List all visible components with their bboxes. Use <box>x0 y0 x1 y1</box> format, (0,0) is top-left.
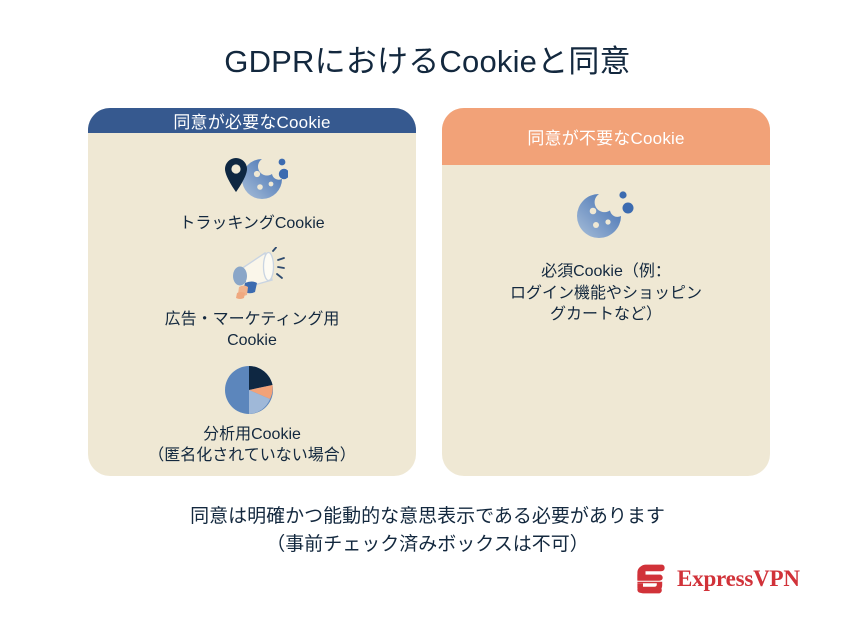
card-body-consent-required: トラッキングCookie <box>88 133 416 476</box>
list-item-label: 分析用Cookie （匿名化されていない場合） <box>148 424 356 467</box>
card-header-consent-not-required: 同意が不要なCookie <box>442 108 770 165</box>
expressvpn-logo: ExpressVPN <box>634 562 800 596</box>
expressvpn-wordmark: ExpressVPN <box>677 566 800 592</box>
list-item-essential: 必須Cookie（例： ログイン機能やショッピン グカートなど） <box>456 187 756 326</box>
list-item-analytics: 分析用Cookie （匿名化されていない場合） <box>102 362 402 467</box>
list-item-label: 必須Cookie（例： ログイン機能やショッピン グカートなど） <box>510 261 702 326</box>
megaphone-icon <box>217 247 287 303</box>
caption-text: 同意は明確かつ能動的な意思表示である必要があります （事前チェック済みボックスは… <box>0 503 855 558</box>
card-consent-required: 同意が必要なCookie <box>88 108 416 476</box>
page-title: GDPRにおけるCookieと同意 <box>0 36 855 81</box>
cookie-pin-icon <box>216 151 288 207</box>
pie-chart-icon <box>222 362 282 418</box>
card-consent-not-required: 同意が不要なCookie <box>442 108 770 476</box>
gdpr-cookie-infographic: GDPRにおけるCookieと同意 同意が必要なCookie <box>0 0 855 621</box>
card-body-consent-not-required: 必須Cookie（例： ログイン機能やショッピン グカートなど） <box>442 165 770 476</box>
card-header-consent-required: 同意が必要なCookie <box>88 108 416 133</box>
cards-container: 同意が必要なCookie <box>88 108 770 476</box>
expressvpn-e-mark-icon <box>634 562 668 596</box>
list-item-tracking: トラッキングCookie <box>102 151 402 235</box>
cookie-icon <box>573 187 639 249</box>
list-item-label: トラッキングCookie <box>179 213 324 235</box>
list-item-marketing: 広告・マーケティング用 Cookie <box>102 247 402 352</box>
list-item-label: 広告・マーケティング用 Cookie <box>165 309 340 352</box>
